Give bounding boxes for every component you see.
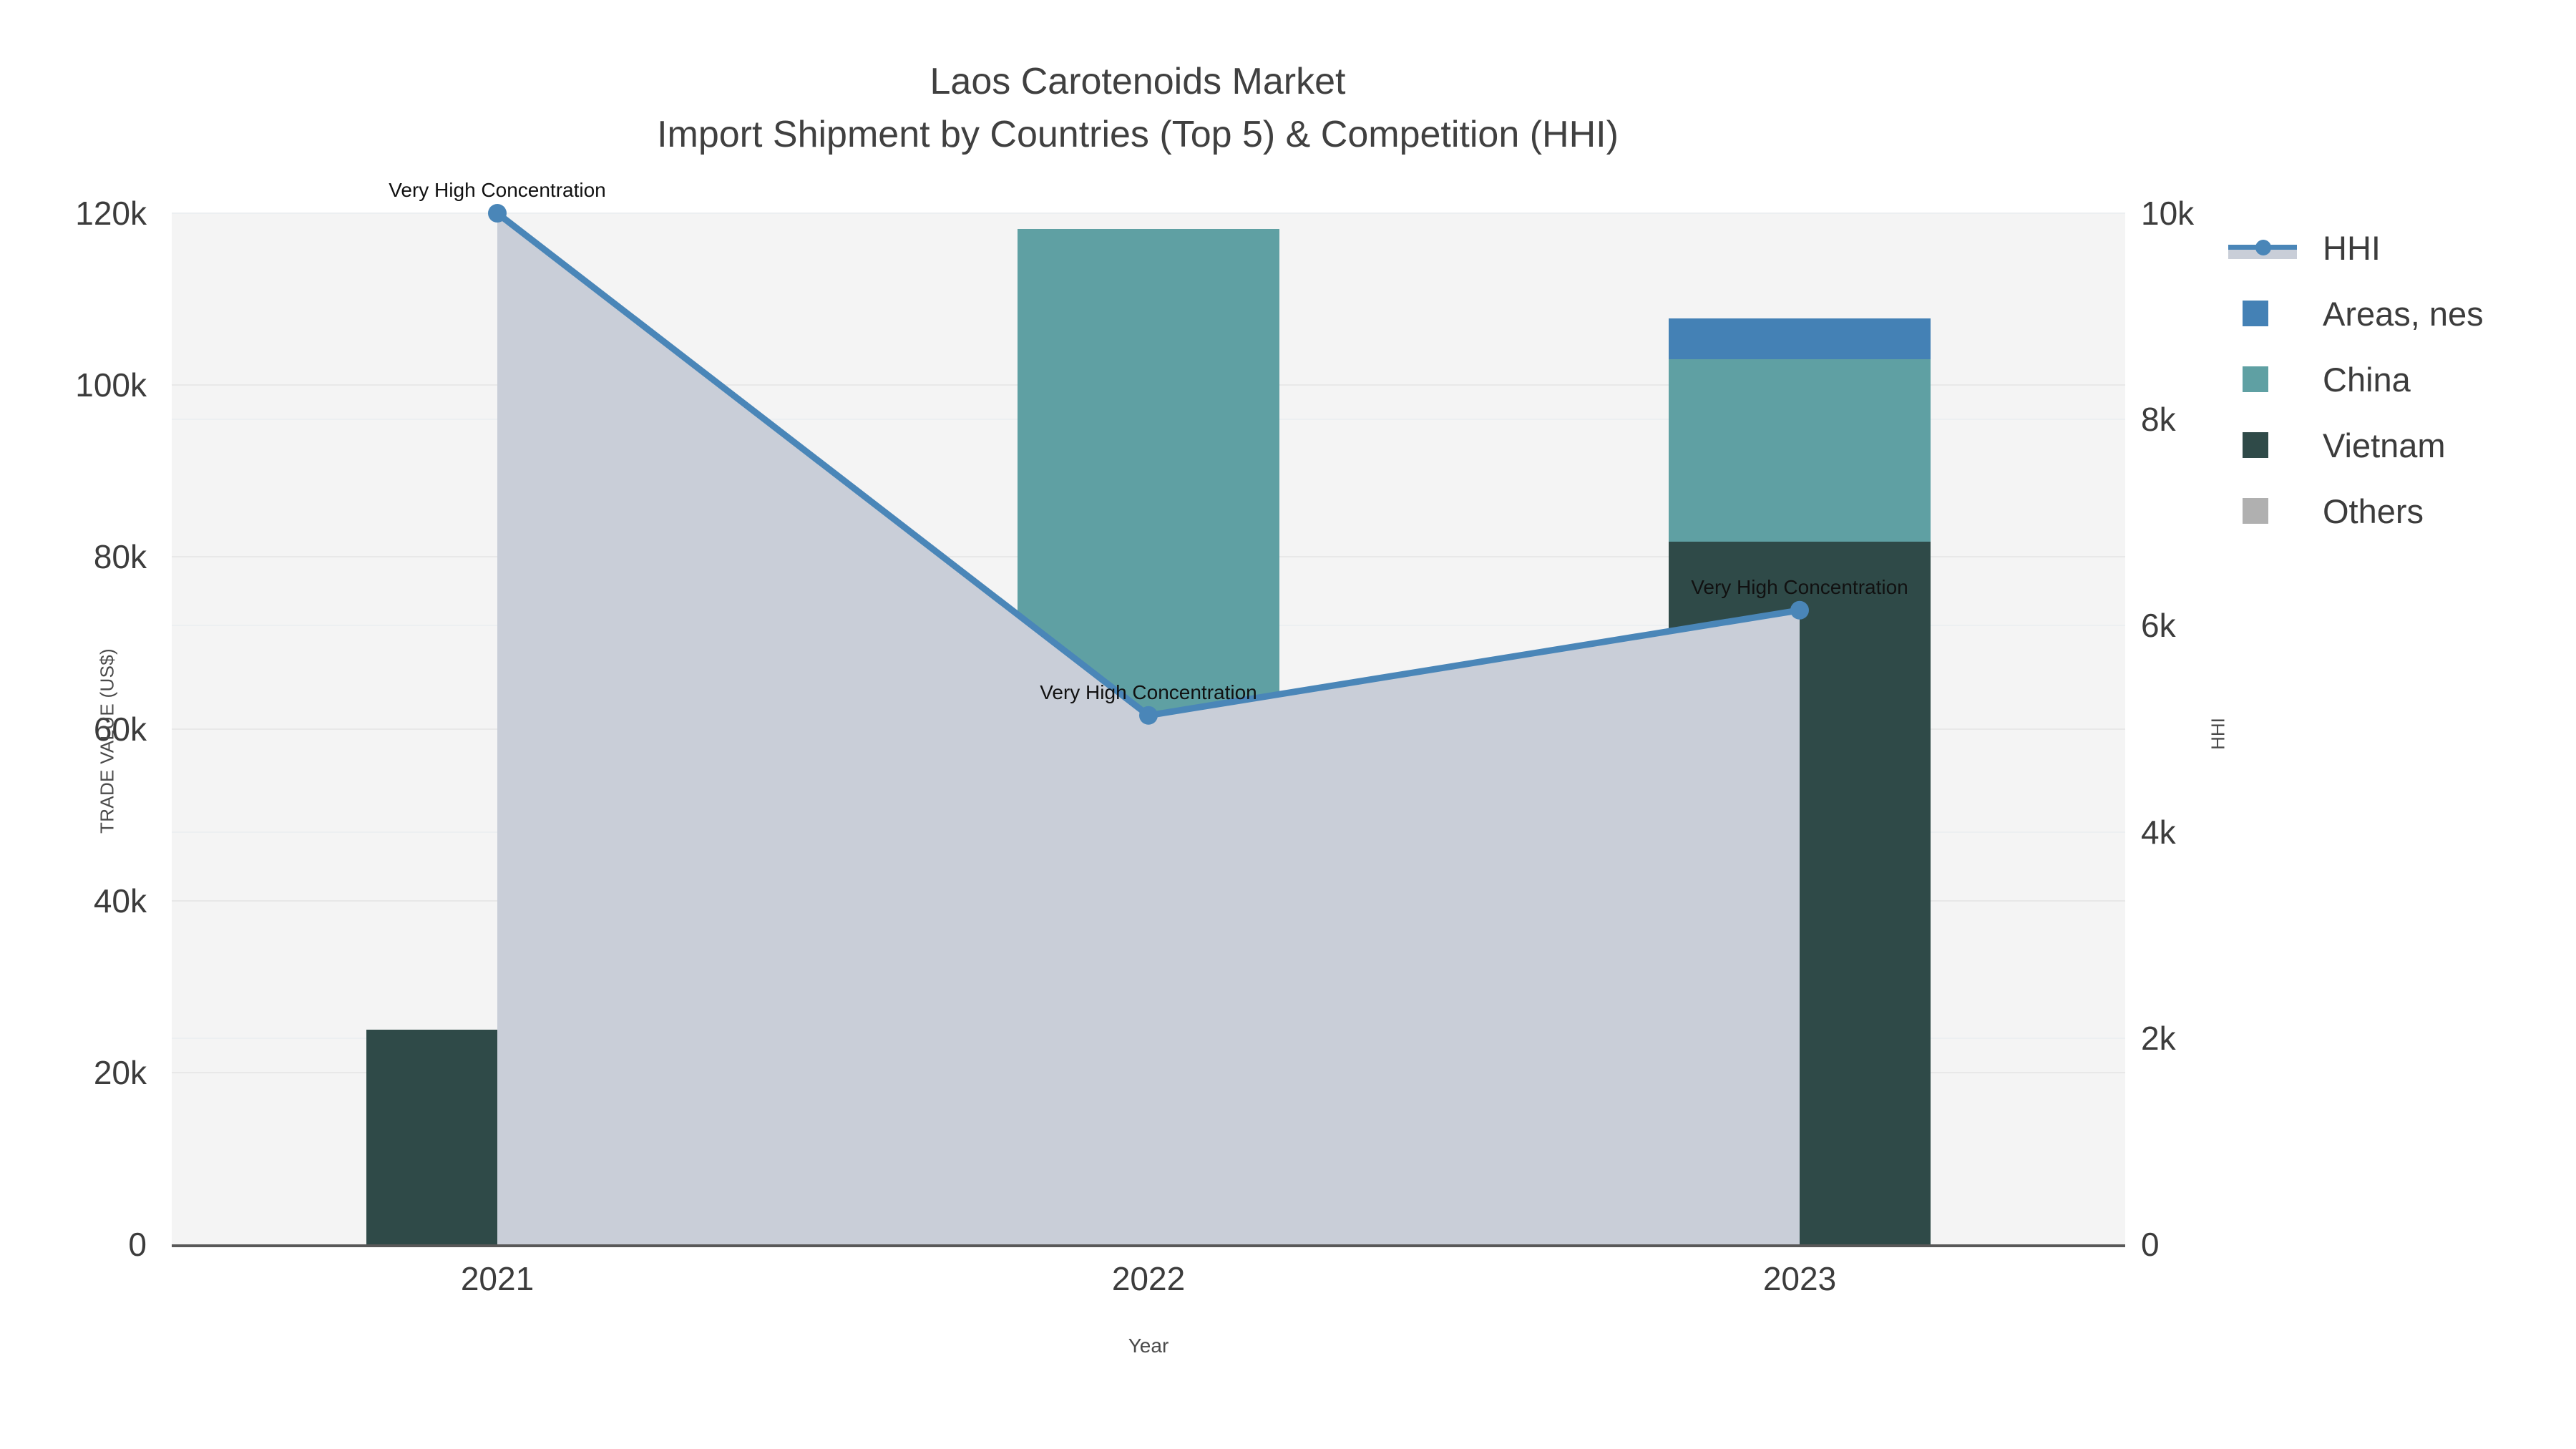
y-tick-left: 40k: [0, 882, 147, 920]
hhi-marker-icon: [2255, 240, 2271, 255]
hhi-marker-2021[interactable]: [488, 204, 507, 223]
x-axis-label: Year: [172, 1335, 2125, 1357]
x-tick-2021: 2021: [461, 1259, 534, 1298]
legend-swatch-icon: [2218, 425, 2304, 465]
y-tick-left: 60k: [0, 710, 147, 748]
x-tick-2022: 2022: [1112, 1259, 1185, 1298]
y-tick-left: 20k: [0, 1053, 147, 1092]
color-swatch-icon: [2243, 432, 2268, 458]
legend-swatch-icon: [2218, 359, 2304, 399]
hhi-line-icon: [2218, 228, 2304, 268]
y-tick-right: 2k: [2141, 1019, 2176, 1058]
hhi-marker-2023[interactable]: [1790, 601, 1809, 620]
legend-label: China: [2323, 363, 2411, 396]
legend-label: HHI: [2323, 231, 2381, 265]
legend-item-others[interactable]: Others: [2218, 491, 2484, 531]
chart-subtitle: Import Shipment by Countries (Top 5) & C…: [0, 109, 2275, 162]
y-tick-left: 120k: [0, 194, 147, 233]
legend-item-areas-nes[interactable]: Areas, nes: [2218, 293, 2484, 333]
y-tick-right: 6k: [2141, 606, 2176, 645]
legend-swatch-icon: [2218, 293, 2304, 333]
y-tick-right: 0: [2141, 1225, 2160, 1264]
legend-item-vietnam[interactable]: Vietnam: [2218, 425, 2484, 465]
legend: HHIAreas, nesChinaVietnamOthers: [2218, 228, 2484, 531]
plot-area: [172, 213, 2125, 1244]
annotation-2022: Very High Concentration: [1040, 681, 1257, 704]
x-tick-2023: 2023: [1763, 1259, 1836, 1298]
y-axis-right-label: HHI: [2207, 663, 2230, 806]
legend-swatch-icon: [2218, 491, 2304, 531]
y-tick-left: 0: [0, 1225, 147, 1264]
legend-item-china[interactable]: China: [2218, 359, 2484, 399]
color-swatch-icon: [2243, 498, 2268, 524]
y-tick-right: 10k: [2141, 194, 2194, 233]
legend-item-hhi[interactable]: HHI: [2218, 228, 2484, 268]
color-swatch-icon: [2243, 366, 2268, 392]
y-tick-right: 4k: [2141, 813, 2176, 852]
legend-label: Vietnam: [2323, 429, 2446, 462]
annotation-2023: Very High Concentration: [1691, 576, 1908, 599]
chart-title-block: Laos Carotenoids Market Import Shipment …: [0, 56, 2275, 162]
color-swatch-icon: [2243, 301, 2268, 326]
y-tick-left: 80k: [0, 537, 147, 576]
y-tick-right: 8k: [2141, 400, 2176, 439]
legend-label: Others: [2323, 494, 2424, 528]
chart-title: Laos Carotenoids Market: [0, 56, 2275, 109]
hhi-series: [172, 213, 2125, 1244]
y-axis-left-label: TRADE VALUE (US$): [97, 577, 119, 906]
x-axis-line: [172, 1244, 2125, 1247]
legend-label: Areas, nes: [2323, 297, 2484, 331]
y-tick-left: 100k: [0, 366, 147, 404]
hhi-marker-2022[interactable]: [1139, 706, 1158, 725]
annotation-2021: Very High Concentration: [389, 179, 606, 202]
